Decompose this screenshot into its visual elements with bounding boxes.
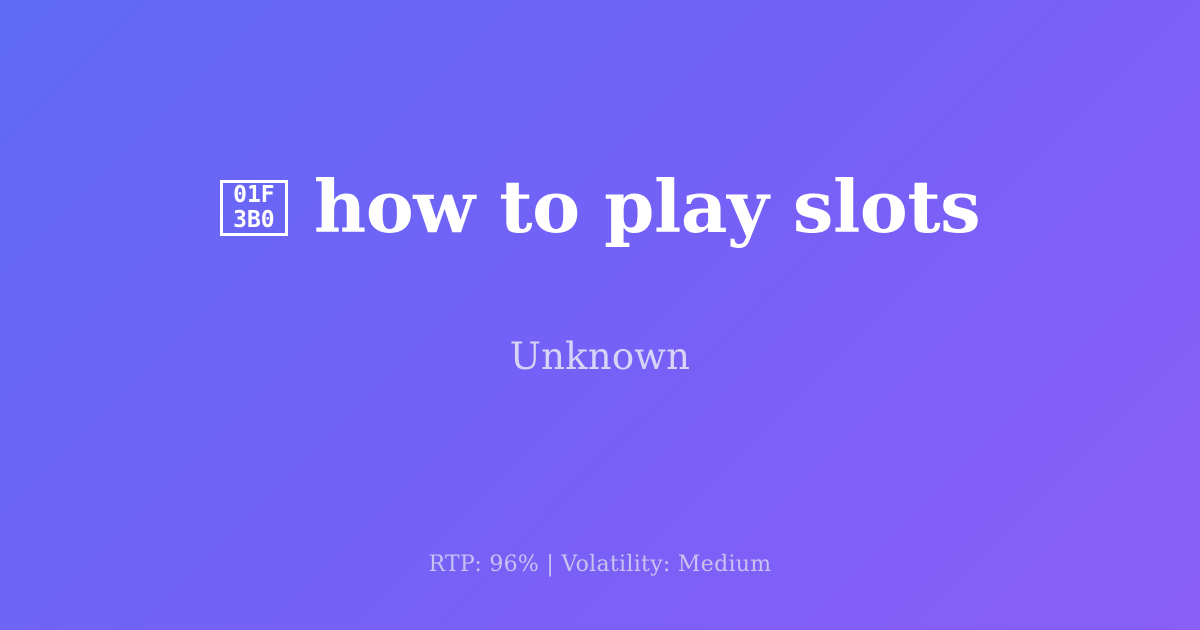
slot-machine-icon-hex-bottom: 3B0: [233, 208, 275, 233]
footer-section: RTP: 96% | Volatility: Medium: [0, 500, 1200, 630]
title-row: 01F 3B0 how to play slots: [220, 121, 980, 293]
hero-section: 01F 3B0 how to play slots Unknown: [0, 0, 1200, 500]
og-share-card: 01F 3B0 how to play slots Unknown RTP: 9…: [0, 0, 1200, 630]
slot-machine-icon: 01F 3B0: [220, 180, 288, 236]
page-title: how to play slots: [314, 169, 980, 245]
slot-machine-icon-hex-top: 01F: [233, 183, 275, 208]
provider-subtitle: Unknown: [510, 335, 690, 379]
game-meta-line: RTP: 96% | Volatility: Medium: [429, 552, 772, 578]
